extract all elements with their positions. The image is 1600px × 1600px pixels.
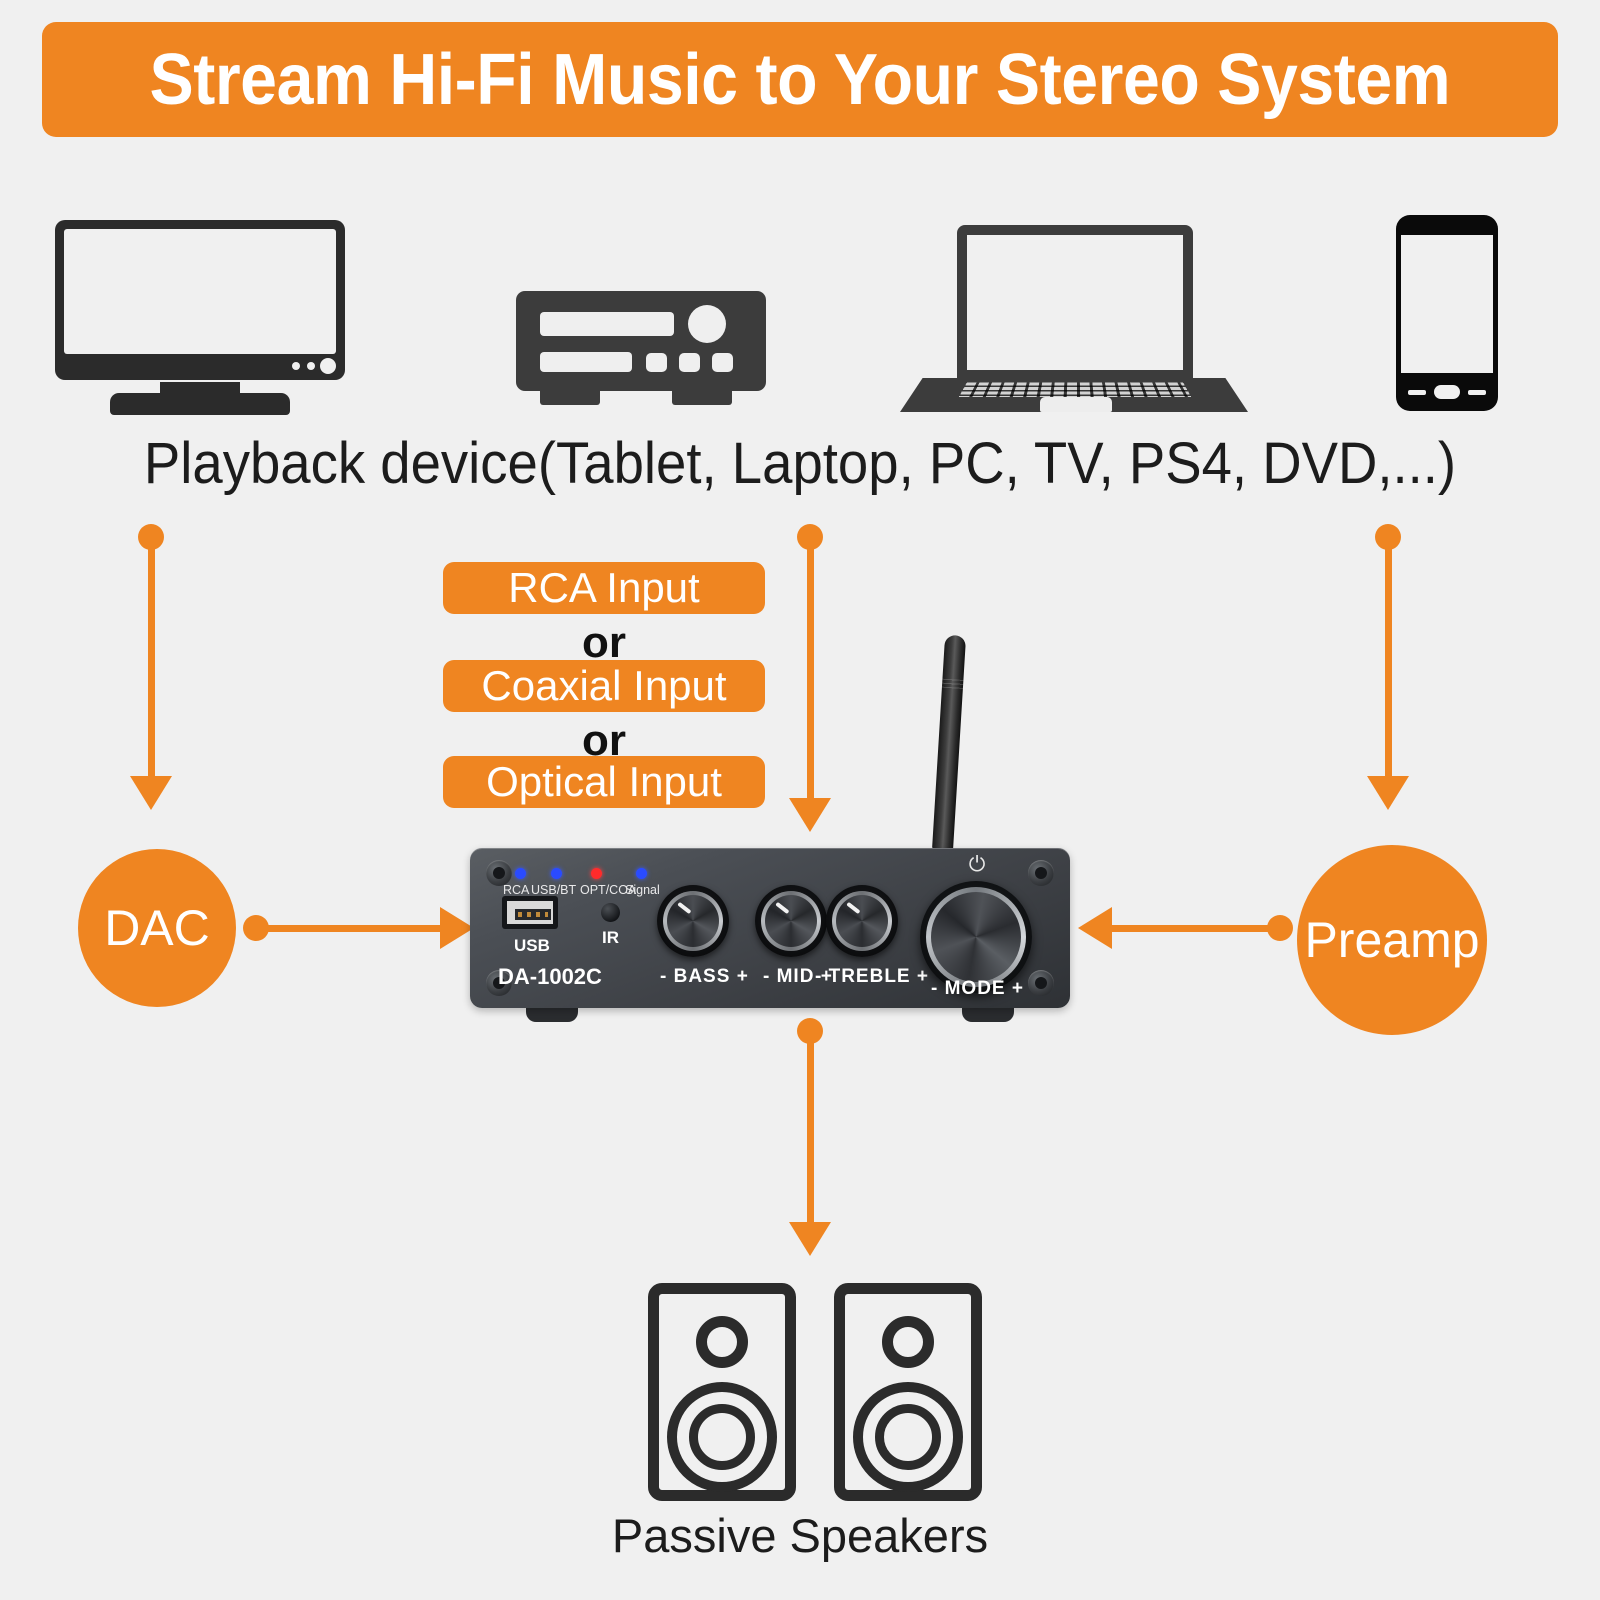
bass-knob[interactable] <box>657 885 729 957</box>
input-option-rca-label: RCA Input <box>508 564 699 612</box>
mode-minus: - <box>931 978 938 999</box>
usb-label: USB <box>514 936 550 956</box>
screw-icon <box>1028 970 1054 996</box>
ir-label: IR <box>602 928 619 948</box>
mid-minus: - <box>763 966 770 987</box>
bass-plus: + <box>737 966 749 987</box>
preamp-node[interactable]: Preamp <box>1297 845 1487 1035</box>
mid-knob[interactable] <box>755 885 827 957</box>
dac-node[interactable]: DAC <box>78 849 236 1007</box>
bass-label: - BASS + <box>660 966 749 988</box>
usb-port[interactable] <box>502 896 558 929</box>
model-label: DA-1002C <box>498 964 602 990</box>
treble-label: - TREBLE + <box>815 966 929 988</box>
led-signal <box>636 868 647 879</box>
led-opt-coa <box>591 868 602 879</box>
led-label-signal: Signal <box>625 883 660 897</box>
title-banner: Stream Hi-Fi Music to Your Stereo System <box>42 22 1558 137</box>
amplifier-device: RCA USB/BT OPT/COA Signal USB IR DA-1002… <box>470 630 1070 1030</box>
treble-minus: - <box>815 966 822 987</box>
amplifier-front-panel: RCA USB/BT OPT/COA Signal USB IR DA-1002… <box>470 848 1070 1008</box>
led-usb-bt <box>551 868 562 879</box>
led-rca <box>515 868 526 879</box>
ir-sensor <box>601 903 620 922</box>
mode-knob[interactable] <box>920 881 1032 993</box>
page-title: Stream Hi-Fi Music to Your Stereo System <box>150 39 1451 121</box>
mode-label: - MODE + <box>931 978 1024 1000</box>
bass-minus: - <box>660 966 667 987</box>
screw-icon <box>1028 860 1054 886</box>
treble-knob[interactable] <box>826 885 898 957</box>
led-label-usb-bt: USB/BT <box>531 883 576 897</box>
mode-plus: + <box>1012 978 1024 999</box>
power-icon: ⏻ <box>966 854 988 876</box>
led-label-rca: RCA <box>503 883 529 897</box>
playback-device-caption: Playback device(Tablet, Laptop, PC, TV, … <box>48 430 1552 497</box>
dac-label: DAC <box>104 899 210 957</box>
speakers-caption: Passive Speakers <box>0 1508 1600 1563</box>
preamp-label: Preamp <box>1304 911 1479 969</box>
treble-plus: + <box>917 966 929 987</box>
input-option-rca[interactable]: RCA Input <box>443 562 765 614</box>
infographic-canvas: Stream Hi-Fi Music to Your Stereo System <box>0 0 1600 1600</box>
antenna <box>932 635 966 851</box>
